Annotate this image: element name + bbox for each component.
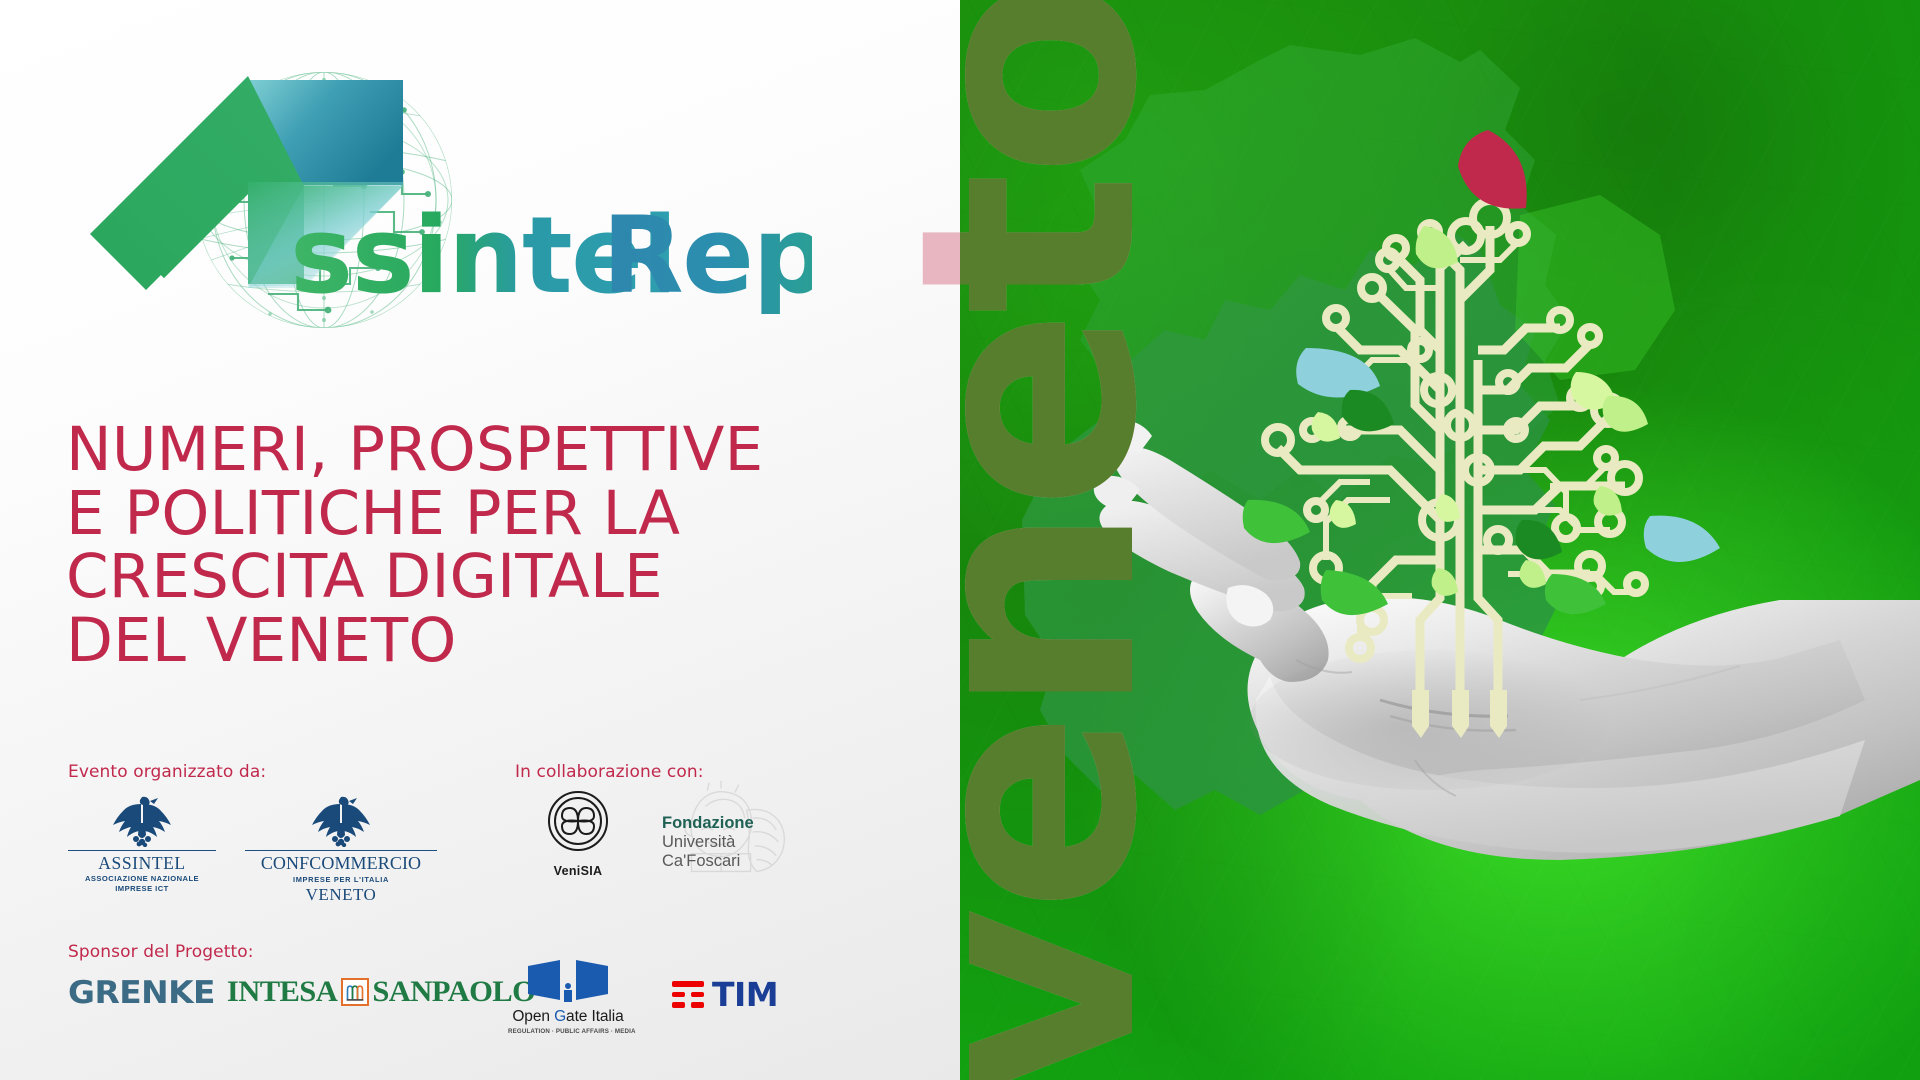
logo-tim[interactable]: TIM <box>672 975 778 1014</box>
logo-open-gate-italia[interactable]: Open Gate Italia REGULATION · PUBLIC AFF… <box>508 960 628 1035</box>
veneto-watermark-over-green: veneto <box>960 0 1920 1080</box>
open-gate-italia-tagline: REGULATION · PUBLIC AFFAIRS · MEDIA <box>508 1028 628 1035</box>
assintel-sub1: ASSOCIAZIONE NAZIONALE <box>68 874 216 884</box>
assintel-name: ASSINTEL <box>68 853 216 874</box>
ogi-name-part1: Open <box>512 1008 554 1025</box>
logo-venisia[interactable]: VeniSIA <box>523 790 633 878</box>
venisia-quatrefoil-icon <box>547 790 609 852</box>
logo-fondazione-ca-foscari[interactable]: Fondazione Università Ca'Foscari <box>648 782 796 887</box>
sponsor-label: Sponsor del Progetto: <box>68 942 254 962</box>
open-gate-book-icon <box>526 960 610 1006</box>
logo-intesa-sanpaolo[interactable]: INTESA SANPAOLO <box>228 975 534 1009</box>
logo-confcommercio[interactable]: CONFCOMMERCIO IMPRESE PER L'ITALIA VENET… <box>245 795 437 905</box>
ogi-name-part2: G <box>554 1008 566 1025</box>
open-gate-italia-name: Open Gate Italia <box>508 1008 628 1026</box>
intesa-sanpaolo-colonnade-icon <box>341 978 369 1006</box>
confcommercio-eagle-icon <box>308 795 374 847</box>
confcommercio-divider <box>245 850 437 851</box>
tim-wordmark: TIM <box>712 975 778 1014</box>
tim-bars-icon <box>672 981 704 1008</box>
fondazione-line2: Università <box>662 833 754 852</box>
logo-wordmark-part2: Report <box>602 194 812 317</box>
assintel-sub2: IMPRESE ICT <box>68 884 216 894</box>
page-title: NUMERI, PROSPETTIVE E POLITICHE PER LA C… <box>66 418 866 673</box>
assintel-report-logo[interactable]: ssintel Report <box>72 62 812 342</box>
fondazione-line1: Fondazione <box>662 814 754 833</box>
venisia-name: VeniSIA <box>523 864 633 878</box>
intesa-word: INTESA <box>227 975 337 1009</box>
assintel-eagle-icon <box>109 795 175 847</box>
logo-grenke[interactable]: GRENKE <box>68 975 207 1011</box>
assintel-divider <box>68 850 216 851</box>
confcommercio-sub1: IMPRESE PER L'ITALIA <box>245 875 437 884</box>
ogi-name-part3: ate Italia <box>566 1008 624 1025</box>
grenke-wordmark: GRENKE <box>68 975 215 1011</box>
veneto-watermark-text-dark: veneto <box>960 0 1179 1080</box>
slide-canvas: .tr { fill:none; stroke:#eaeac2; stroke-… <box>0 0 1920 1080</box>
confcommercio-sub2: VENETO <box>245 885 437 905</box>
organizer-label: Evento organizzato da: <box>68 762 266 782</box>
confcommercio-name: CONFCOMMERCIO <box>245 853 437 874</box>
assintel-arrow-globe-logo: ssintel Report <box>72 62 812 352</box>
logo-assintel[interactable]: ASSINTEL ASSOCIAZIONE NAZIONALE IMPRESE … <box>68 795 216 893</box>
fondazione-line3: Ca'Foscari <box>662 852 754 871</box>
